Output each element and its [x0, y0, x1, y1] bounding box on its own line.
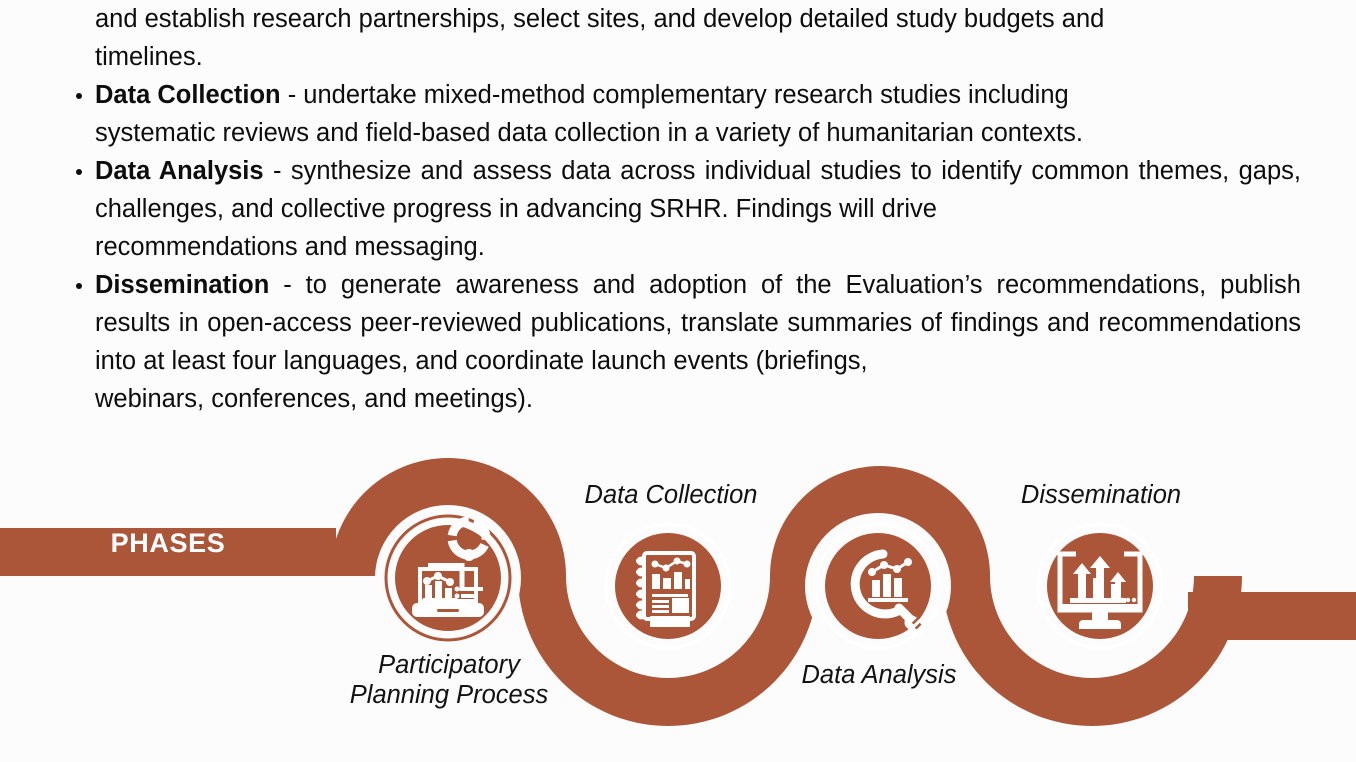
continuation-paragraph: and establish research partnerships, sel… [0, 0, 1356, 76]
bullet-tail: systematic reviews and field-based data … [95, 114, 1301, 152]
continuation-line-2: timelines. [95, 38, 1301, 76]
node-data-collection [606, 524, 730, 648]
continuation-line-1: and establish research partnerships, sel… [95, 5, 1104, 33]
bullet-dash: - [269, 271, 305, 299]
phases-process-diagram: PHASES Participatory Planning Process Da… [0, 432, 1356, 762]
bullet-term: Dissemination [95, 271, 269, 299]
bullet-tail: recommendations and messaging. [95, 228, 1301, 266]
document-text-block: and establish research partnerships, sel… [0, 0, 1356, 418]
bullet-dash: - [264, 157, 291, 185]
bullet-dash: - [281, 81, 304, 109]
bullet-tail: webinars, conferences, and meetings). [95, 380, 1301, 418]
bullet-list: Data Collection - undertake mixed-method… [0, 76, 1356, 418]
list-item: Data Analysis - synthesize and assess da… [0, 152, 1356, 266]
bullet-body: undertake mixed-method complementary res… [303, 81, 1068, 109]
list-item: Data Collection - undertake mixed-method… [0, 76, 1356, 152]
bullet-term: Data Collection [95, 81, 281, 109]
node-data-analysis [816, 524, 940, 648]
list-item: Dissemination - to generate awareness an… [0, 266, 1356, 418]
node-participatory-planning-process [386, 516, 510, 640]
node-dissemination [1038, 524, 1162, 648]
bullet-term: Data Analysis [95, 157, 264, 185]
